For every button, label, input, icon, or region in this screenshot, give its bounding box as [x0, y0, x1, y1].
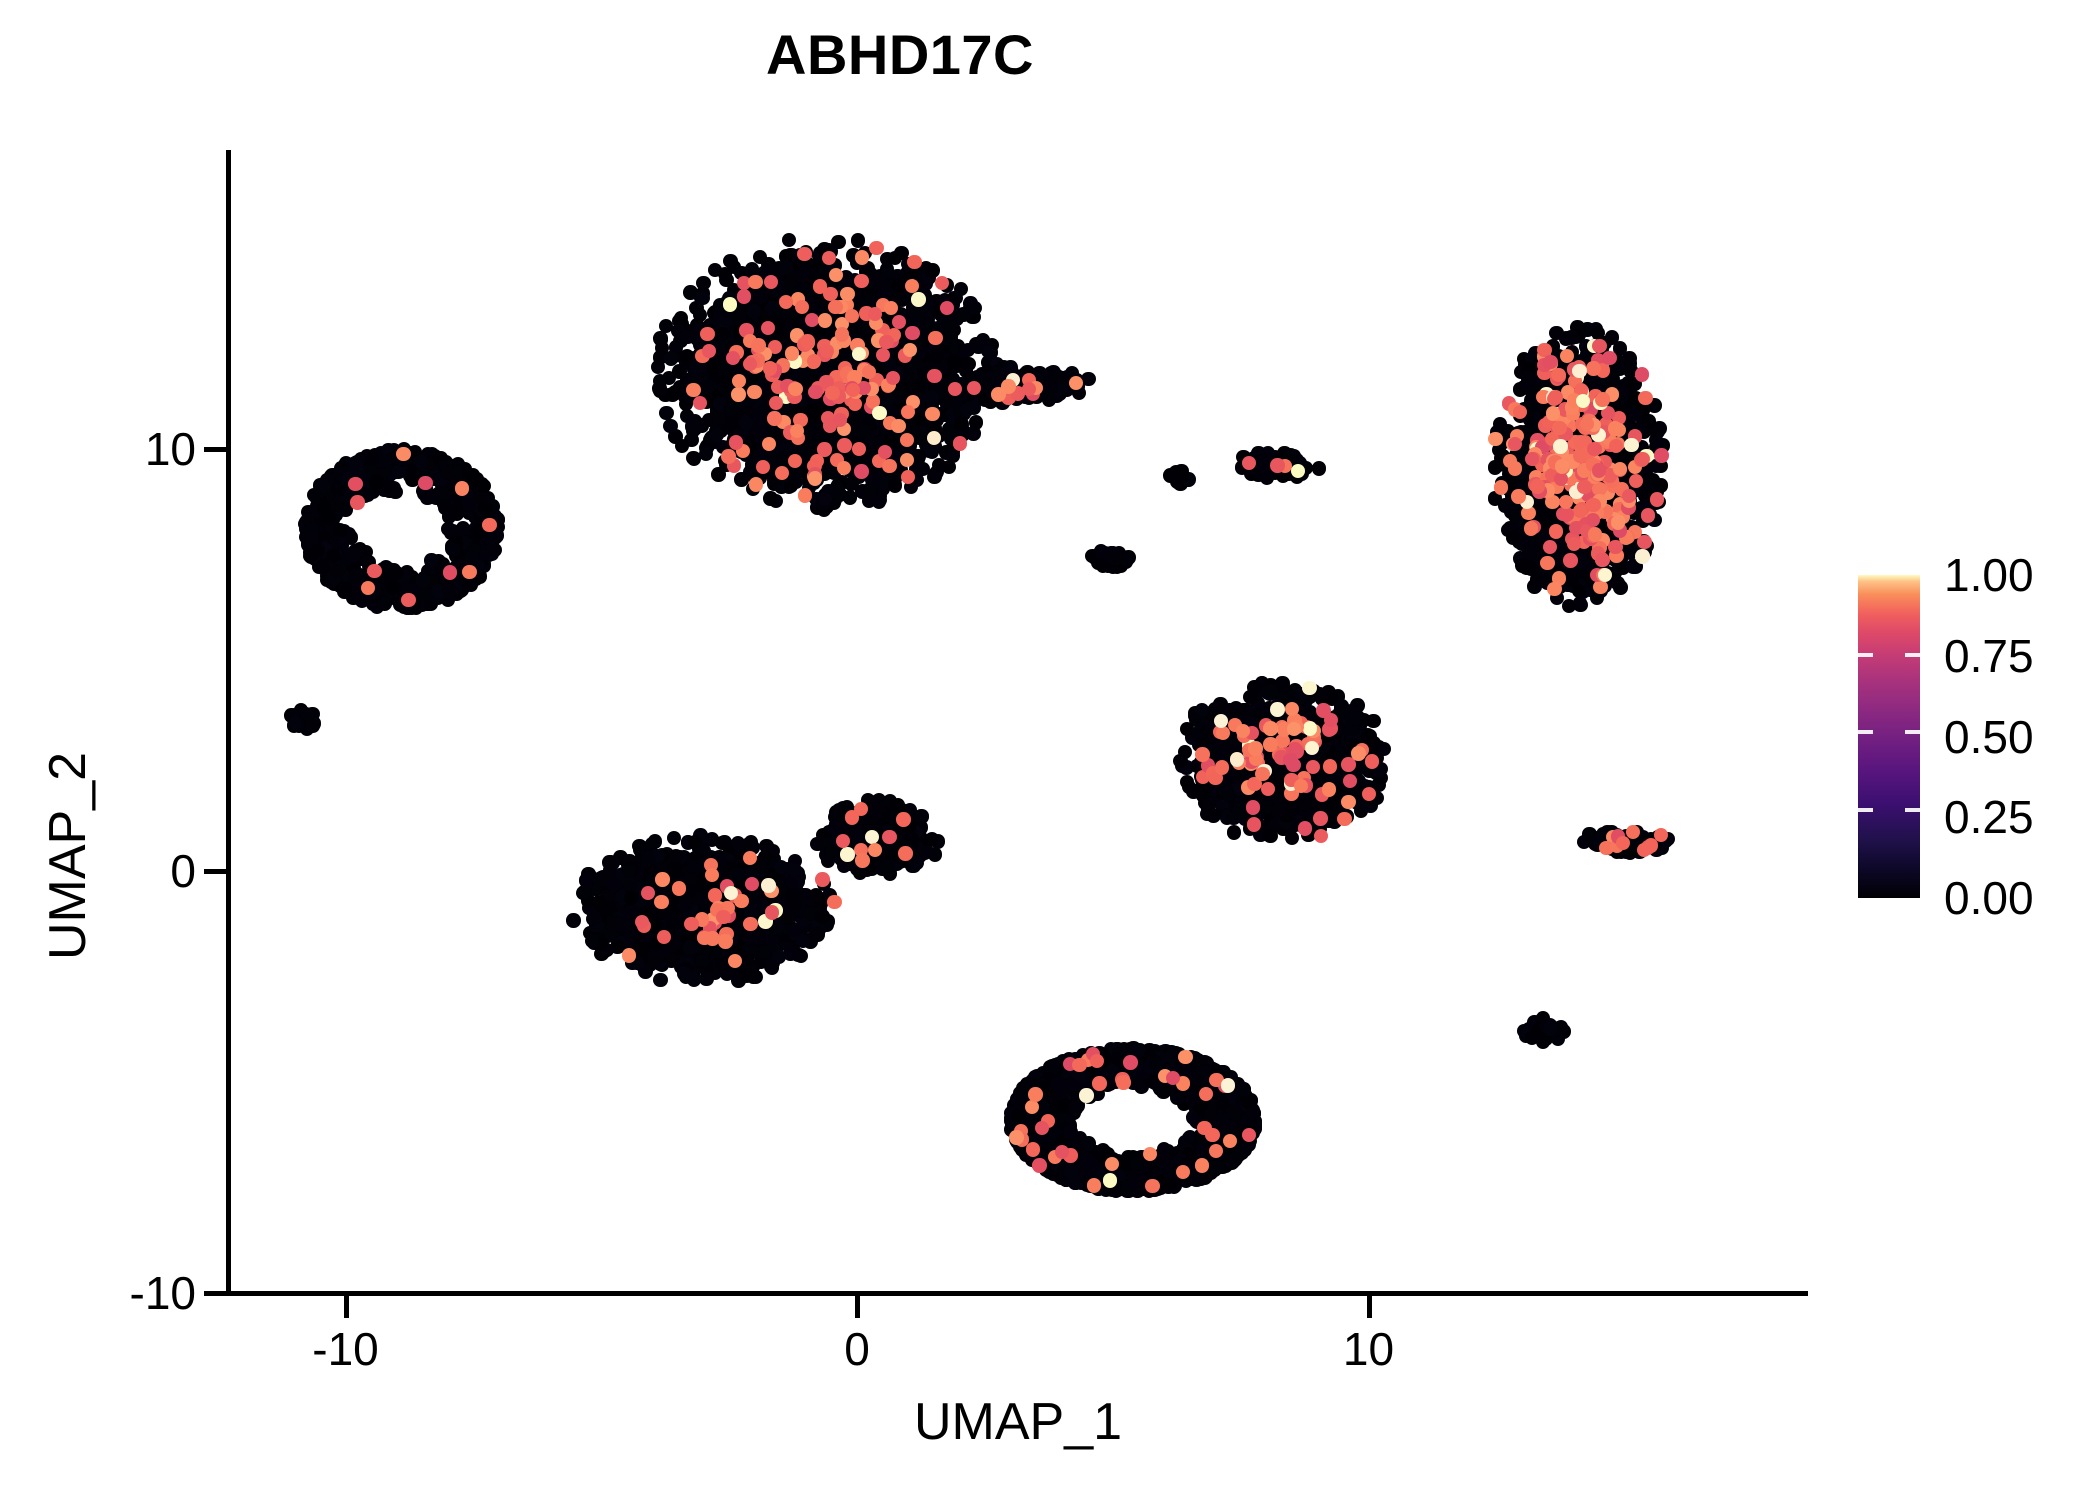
scatter-point [664, 351, 678, 365]
scatter-point [337, 581, 351, 595]
scatter-point [442, 584, 456, 598]
scatter-point [681, 330, 695, 344]
scatter-point [856, 424, 870, 438]
scatter-point [668, 385, 682, 399]
scatter-point [954, 417, 968, 431]
scatter-point [347, 547, 361, 561]
scatter-point [369, 475, 383, 489]
scatter-point [747, 304, 761, 318]
scatter-point [696, 276, 710, 290]
scatter-point [739, 415, 753, 429]
scatter-point [330, 564, 344, 578]
scatter-point [485, 543, 499, 557]
scatter-point [420, 491, 434, 505]
scatter-point [305, 719, 319, 733]
scatter-point [967, 301, 981, 315]
chart-title: ABHD17C [0, 22, 1800, 87]
scatter-point [969, 337, 983, 351]
scatter-point [663, 419, 677, 433]
scatter-point [464, 551, 478, 565]
scatter-point [706, 359, 720, 373]
scatter-point [754, 289, 768, 303]
scatter-point [794, 269, 808, 283]
scatter-point [386, 581, 400, 595]
scatter-point [723, 254, 737, 268]
scatter-point [288, 716, 302, 730]
scatter-point [316, 478, 330, 492]
scatter-point [688, 422, 702, 436]
scatter-point [675, 439, 689, 453]
scatter-point [474, 477, 488, 491]
scatter-plot-panel [228, 150, 1808, 1293]
scatter-point [710, 428, 724, 442]
scatter-point [702, 379, 716, 393]
scatter-point [925, 390, 939, 404]
scatter-point [888, 251, 902, 265]
scatter-point [699, 447, 713, 461]
scatter-point [365, 451, 379, 465]
scatter-point [872, 495, 886, 509]
scatter-point [930, 349, 944, 363]
scatter-point [377, 596, 391, 610]
scatter-point [304, 531, 318, 545]
scatter-point [416, 573, 430, 587]
scatter-point [1041, 380, 1055, 394]
scatter-point [969, 415, 983, 429]
scatter-point [652, 381, 666, 395]
scatter-point [440, 465, 454, 479]
scatter-point [877, 285, 891, 299]
scatter-point [378, 454, 392, 468]
scatter-point [818, 492, 832, 506]
scatter-point [782, 233, 796, 247]
scatter-point [888, 478, 902, 492]
scatter-point [316, 560, 330, 574]
scatter-point [446, 543, 460, 557]
scatter-point [906, 312, 920, 326]
scatter-point [763, 491, 777, 505]
scatter-point [960, 403, 974, 417]
scatter-point [784, 479, 798, 493]
scatter-point [695, 291, 709, 305]
scatter-point [925, 263, 939, 277]
scatter-point [478, 501, 492, 515]
scatter-point [711, 467, 725, 481]
